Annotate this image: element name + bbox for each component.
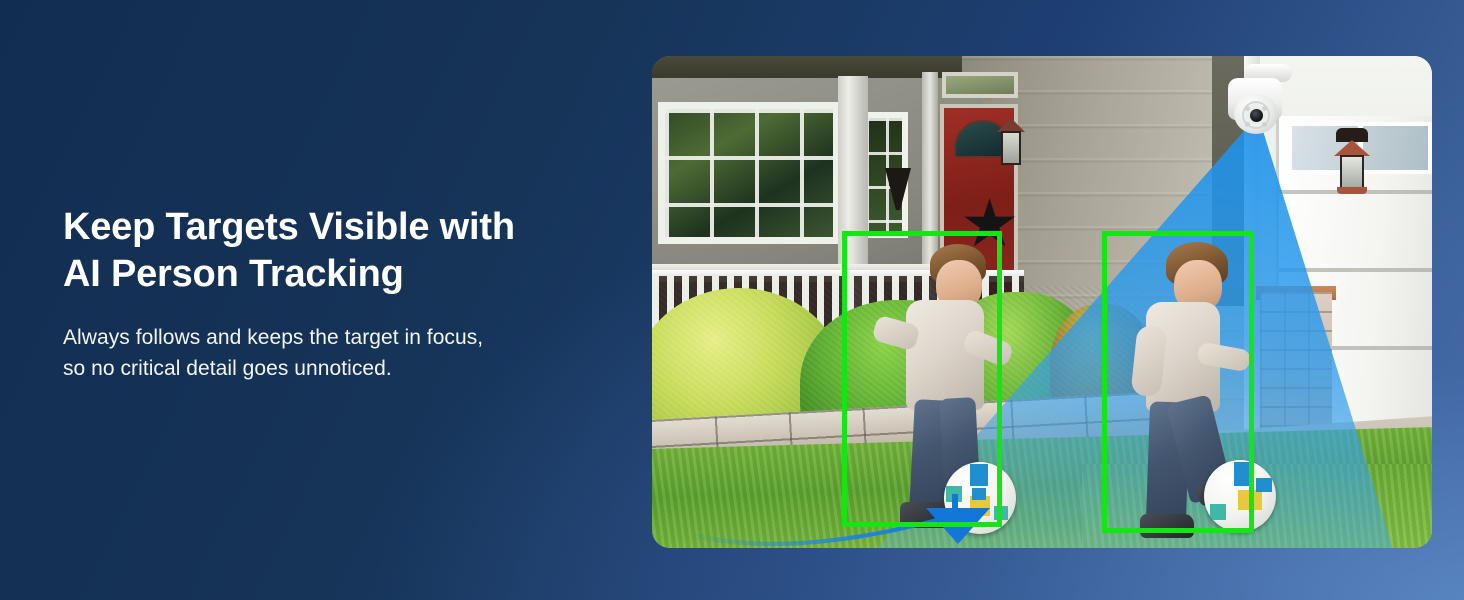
ball-panel <box>1256 478 1272 492</box>
camera-ir-led <box>1262 106 1267 111</box>
camera-preview-image: ★ <box>652 56 1432 548</box>
page-subtitle: Always follows and keeps the target in f… <box>63 322 623 384</box>
porch-lantern-icon <box>997 118 1025 170</box>
copy-block: Keep Targets Visible with AI Person Trac… <box>63 204 623 384</box>
page-title: Keep Targets Visible with AI Person Trac… <box>63 204 623 298</box>
detection-box-person-right <box>1102 231 1254 533</box>
camera-ir-led <box>1245 106 1250 111</box>
door-transom <box>942 72 1018 98</box>
lantern-roof <box>997 118 1025 132</box>
window-muntins <box>665 109 833 237</box>
camera-ir-led <box>1262 122 1267 127</box>
lantern-bracket <box>1336 128 1368 142</box>
bay-window <box>658 102 840 244</box>
lantern-roof <box>1334 140 1370 156</box>
promo-banner: Keep Targets Visible with AI Person Trac… <box>0 0 1464 600</box>
camera-lens-icon <box>1250 109 1263 122</box>
lantern-base <box>1337 187 1367 194</box>
lantern-glass <box>1001 131 1021 165</box>
garage-lantern-icon <box>1334 128 1370 194</box>
lantern-glass <box>1340 155 1364 189</box>
detection-box-person-left <box>842 231 1002 527</box>
scene: ★ <box>652 56 1432 548</box>
camera-ir-led <box>1245 122 1250 127</box>
